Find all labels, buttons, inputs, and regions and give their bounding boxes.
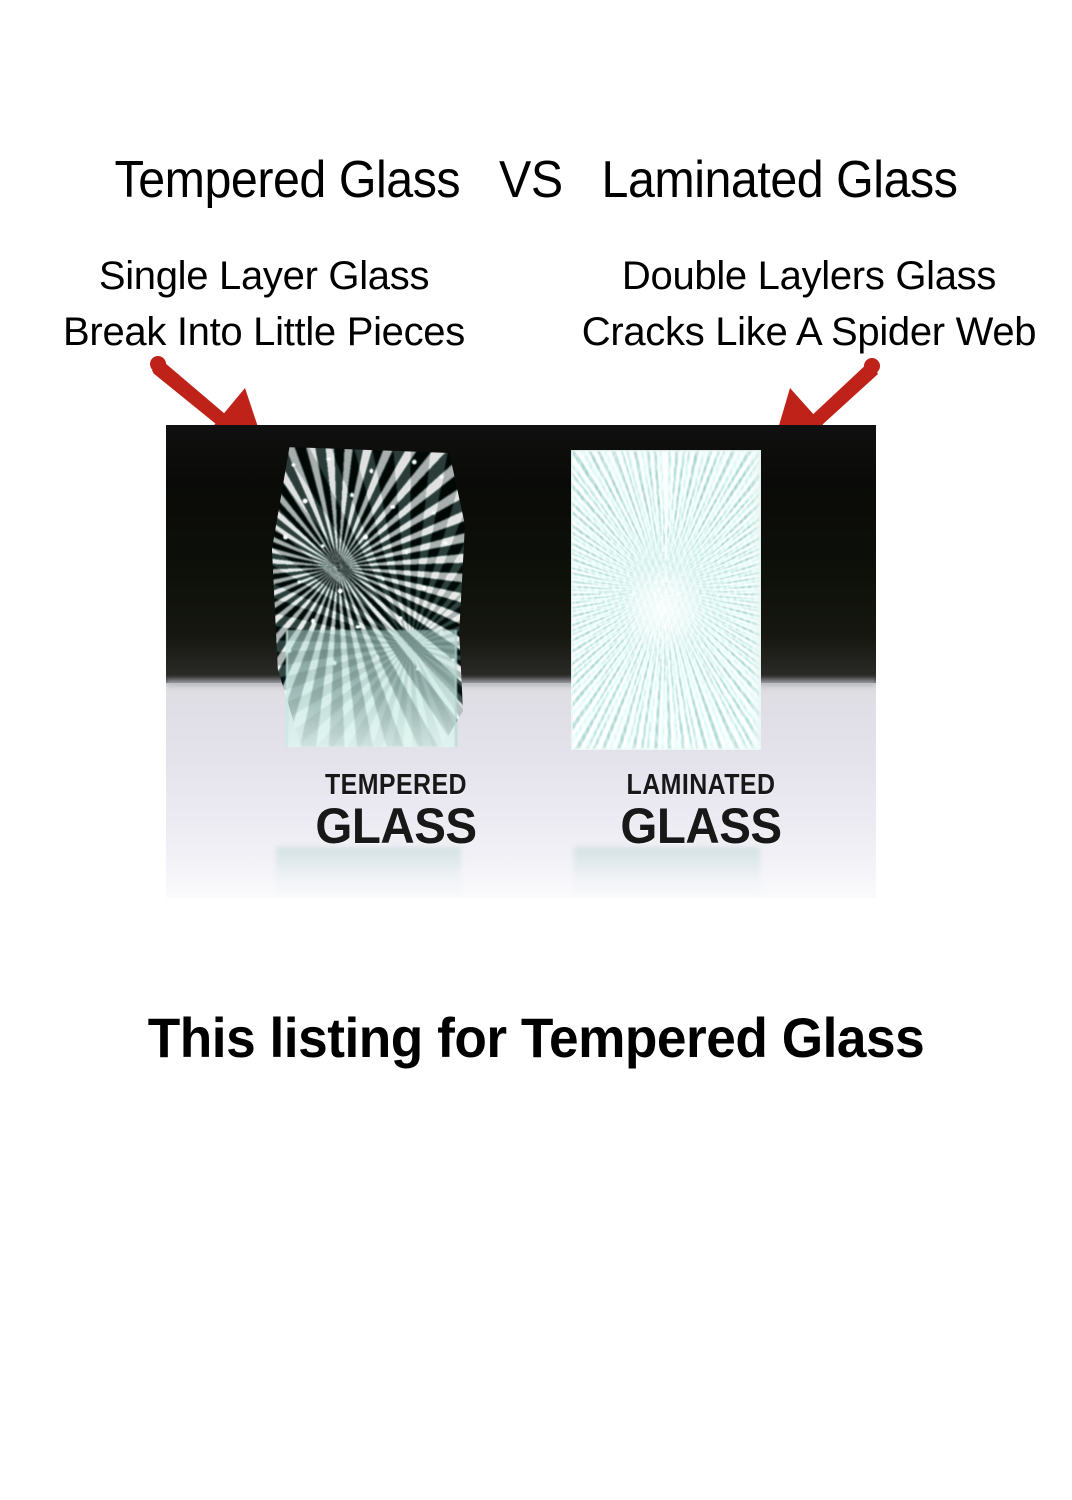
- laminated-reflection: [574, 847, 760, 898]
- listing-note: This listing for Tempered Glass: [27, 1005, 1045, 1071]
- right-description-line-1: Double Laylers Glass: [546, 248, 1072, 304]
- tempered-glass-base: [286, 630, 458, 747]
- photo-caption-tempered-small: TEMPERED: [250, 770, 542, 801]
- tempered-glass-panel: [270, 447, 465, 747]
- laminated-glass-frame: [571, 450, 761, 750]
- right-description-line-2: Cracks Like A Spider Web: [546, 304, 1072, 360]
- photo-caption-laminated: LAMINATED GLASS: [536, 770, 866, 851]
- laminated-glass-panel: [571, 450, 761, 750]
- comparison-infographic: Tempered Glass VS Laminated Glass Single…: [0, 0, 1072, 1500]
- photo-caption-tempered-big: GLASS: [235, 801, 558, 851]
- left-description-line-2: Break Into Little Pieces: [4, 304, 524, 360]
- tempered-reflection: [276, 847, 461, 898]
- right-description-column: Double Laylers Glass Cracks Like A Spide…: [546, 248, 1072, 360]
- photo-caption-tempered: TEMPERED GLASS: [226, 770, 566, 851]
- photo-caption-laminated-big: GLASS: [544, 801, 858, 851]
- photo-caption-laminated-small: LAMINATED: [559, 770, 843, 801]
- page-title: Tempered Glass VS Laminated Glass: [38, 150, 1035, 210]
- left-description-line-1: Single Layer Glass: [4, 248, 524, 304]
- glass-comparison-photo: TEMPERED GLASS LAMINATED GLASS: [166, 425, 876, 898]
- left-description-column: Single Layer Glass Break Into Little Pie…: [4, 248, 524, 360]
